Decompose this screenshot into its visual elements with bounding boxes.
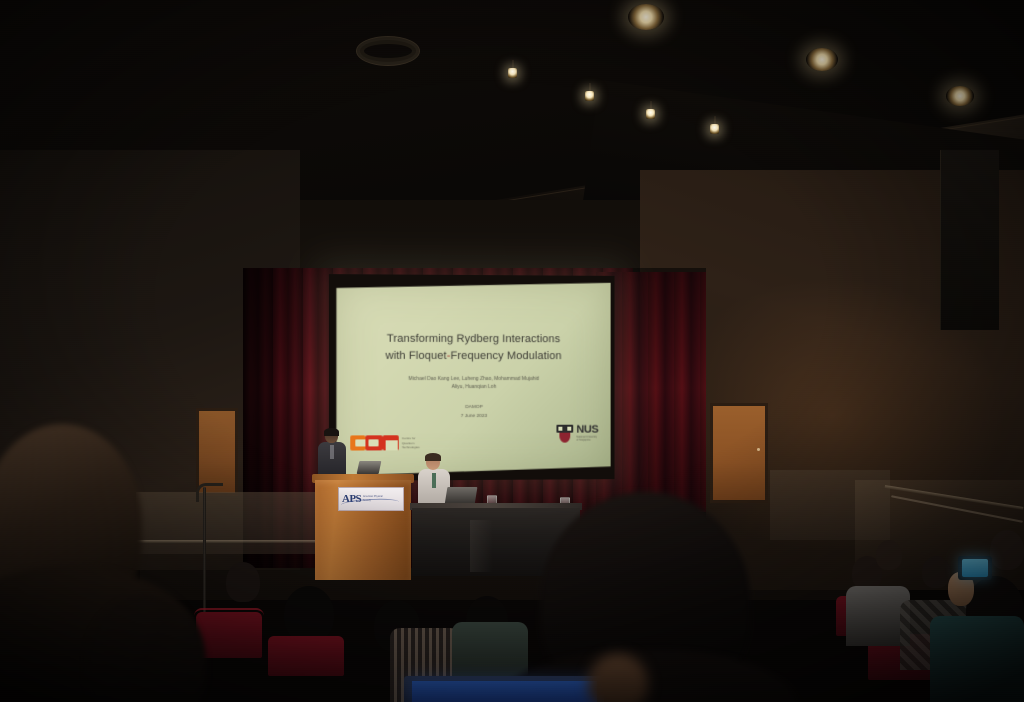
slide-title: Transforming Rydberg Interactions with F…: [349, 331, 597, 364]
wall-loudspeaker: [940, 150, 999, 330]
camera-lcd-screen: [962, 559, 988, 577]
cqt-letter-c-icon: [350, 436, 365, 451]
slide-title-line2-a: with Floquet: [385, 350, 446, 362]
projection-screen: Transforming Rydberg Interactions with F…: [335, 280, 611, 476]
cqt-subtitle-line1: Centre for: [402, 436, 415, 440]
podium-laptop: [357, 461, 382, 474]
theater-seat: [268, 636, 344, 676]
nus-shield-icon: [560, 432, 571, 442]
slide-event-block: DAMOP 7 June 2023: [369, 404, 578, 422]
ceiling-vent-icon: [356, 36, 420, 66]
slide-authors-line1: Michael Dao Kang Lee, Luheng Zhao, Moham…: [408, 376, 539, 382]
side-exit-door-right: [710, 403, 768, 503]
wall-panel: [136, 492, 336, 554]
cqt-letter-q-icon: [366, 436, 383, 451]
cqt-subtitle-line3: Technologies: [402, 445, 420, 449]
downlight-icon: [946, 86, 974, 106]
audience-head: [876, 540, 902, 570]
downlight-icon: [806, 48, 838, 71]
slide-event-date: 7 June 2023: [461, 414, 487, 419]
audience-head: [990, 530, 1024, 570]
slide-content: Transforming Rydberg Interactions with F…: [335, 280, 611, 476]
audience-head: [922, 556, 950, 588]
nus-wordmark: NUS: [576, 424, 598, 435]
cqt-logo-mark-icon: [350, 436, 399, 451]
slide-title-line2-b: Frequency Modulation: [451, 350, 562, 362]
presenter-at-podium: [318, 429, 346, 479]
audience-head: [284, 586, 334, 642]
nus-subtitle: National University of Singapore: [576, 435, 598, 442]
foreground-hand-blur: [588, 654, 648, 702]
nus-crest-icon: [557, 424, 574, 442]
foreground-laptop-screen: [412, 681, 597, 702]
session-chair-hair: [425, 453, 441, 461]
auditorium-photo: Transforming Rydberg Interactions with F…: [0, 0, 1024, 702]
downlight-icon: [628, 4, 664, 30]
wall-rail: [128, 540, 340, 543]
table-cloth-fold: [470, 520, 508, 572]
audience-head: [226, 562, 260, 602]
nus-logo: NUS National University of Singapore: [557, 424, 599, 442]
presenter-lanyard: [330, 445, 334, 459]
spotlight-icon: [508, 68, 517, 78]
theater-seat-edge: [194, 608, 264, 630]
cqt-letter-t-icon: [383, 436, 399, 451]
slide-authors-line2: Aliyu, Huanqian Loh: [452, 384, 497, 390]
spotlight-icon: [646, 109, 655, 119]
slide-event-name: DAMOP: [465, 405, 483, 410]
microphone-boom: [196, 483, 223, 502]
slide-title-line1: Transforming Rydberg Interactions: [387, 333, 560, 345]
session-chair-lanyard: [432, 473, 436, 488]
slide-authors: Michael Dao Kang Lee, Luheng Zhao, Moham…: [366, 376, 581, 392]
nus-subtitle-line2: of Singapore: [576, 439, 590, 442]
camera-holder-shirt: [930, 616, 1024, 702]
cqt-subtitle: Centre for Quantum Technologies: [402, 436, 420, 450]
presenter-hair: [324, 428, 339, 436]
nus-crest-top-icon: [557, 424, 574, 432]
spotlight-icon: [710, 124, 719, 134]
cqt-subtitle-line2: Quantum: [402, 441, 414, 445]
spotlight-icon: [585, 91, 594, 101]
door-knob-icon: [757, 448, 760, 451]
